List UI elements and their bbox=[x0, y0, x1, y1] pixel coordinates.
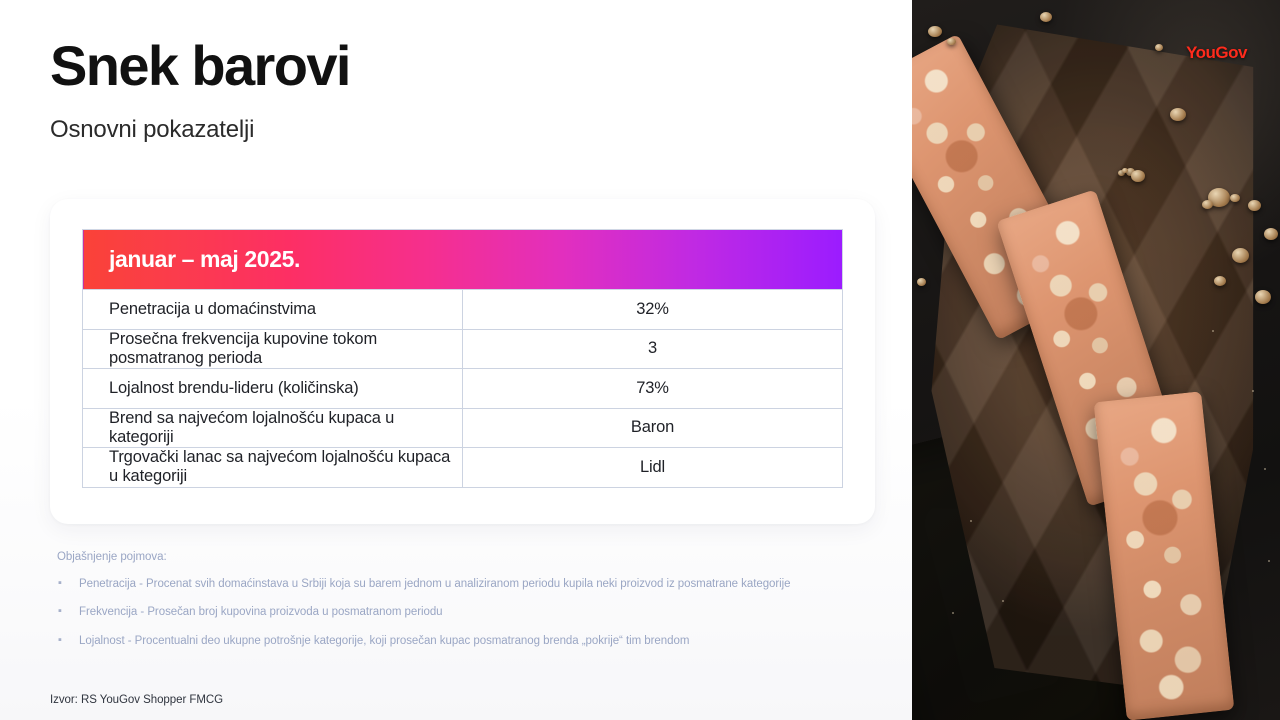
yougov-logo: YouGov bbox=[1186, 44, 1247, 61]
list-item: ▪ Frekvencija - Prosečan broj kupovina p… bbox=[57, 605, 897, 619]
photo-nut-crumb bbox=[1202, 200, 1213, 209]
photo-nut-crumb bbox=[1155, 44, 1163, 51]
metric-value: Lidl bbox=[463, 448, 843, 488]
table-period-label: januar – maj 2025. bbox=[83, 248, 842, 271]
photo-nut-crumb bbox=[1214, 276, 1226, 286]
slide-root: Snek barovi Osnovni pokazatelji januar –… bbox=[0, 0, 1280, 720]
photo-nut-crumb bbox=[947, 38, 956, 45]
table-row: Penetracija u domaćinstvima 32% bbox=[83, 290, 843, 330]
glossary-text: Lojalnost - Procentualni deo ukupne potr… bbox=[79, 634, 689, 648]
metric-label: Brend sa najvećom lojalnošću kupaca u ka… bbox=[83, 408, 463, 448]
metric-value: Baron bbox=[463, 408, 843, 448]
bullet-icon: ▪ bbox=[57, 577, 79, 590]
photo-nut-crumb bbox=[1230, 194, 1240, 202]
bullet-icon: ▪ bbox=[57, 634, 79, 647]
metric-value: 3 bbox=[463, 329, 843, 369]
photo-nut-crumb bbox=[928, 26, 942, 37]
table-header-row: januar – maj 2025. bbox=[83, 230, 843, 290]
metric-value: 73% bbox=[463, 369, 843, 409]
photo-nut-crumb bbox=[1131, 170, 1145, 182]
photo-nut-crumb bbox=[1122, 168, 1128, 173]
photo-nut-crumb bbox=[1232, 248, 1249, 263]
metric-value: 32% bbox=[463, 290, 843, 330]
list-item: ▪ Lojalnost - Procentualni deo ukupne po… bbox=[57, 634, 897, 648]
photo-speck bbox=[1264, 468, 1266, 470]
photo-speck bbox=[970, 520, 972, 522]
table-row: Brend sa najvećom lojalnošću kupaca u ka… bbox=[83, 408, 843, 448]
glossary-heading: Objašnjenje pojmova: bbox=[57, 551, 897, 563]
kpi-card: januar – maj 2025. Penetracija u domaćin… bbox=[50, 199, 875, 524]
table-row: Prosečna frekvencija kupovine tokom posm… bbox=[83, 329, 843, 369]
photo-speck bbox=[952, 612, 954, 614]
glossary-notes: Objašnjenje pojmova: ▪ Penetracija - Pro… bbox=[57, 551, 897, 662]
photo-nut-crumb bbox=[1255, 290, 1271, 304]
kpi-table: januar – maj 2025. Penetracija u domaćin… bbox=[82, 229, 843, 488]
photo-nut-crumb bbox=[917, 278, 926, 286]
metric-label: Penetracija u domaćinstvima bbox=[83, 290, 463, 330]
list-item: ▪ Penetracija - Procenat svih domaćinsta… bbox=[57, 577, 897, 591]
metric-label: Lojalnost brendu-lideru (količinska) bbox=[83, 369, 463, 409]
table-body: Penetracija u domaćinstvima 32% Prosečna… bbox=[83, 290, 843, 488]
photo-speck bbox=[1268, 560, 1270, 562]
photo-nut-crumb bbox=[1170, 108, 1186, 121]
photo-nut-crumb bbox=[1248, 200, 1261, 211]
metric-label: Trgovački lanac sa najvećom lojalnošću k… bbox=[83, 448, 463, 488]
photo-nut-crumb bbox=[1040, 12, 1052, 22]
glossary-text: Frekvencija - Prosečan broj kupovina pro… bbox=[79, 605, 443, 619]
snack-bars-photo: YouGov bbox=[912, 0, 1280, 720]
table-period-header: januar – maj 2025. bbox=[83, 230, 843, 290]
photo-speck bbox=[1002, 600, 1004, 602]
left-content-pane: Snek barovi Osnovni pokazatelji januar –… bbox=[0, 0, 912, 720]
table-row: Trgovački lanac sa najvećom lojalnošću k… bbox=[83, 448, 843, 488]
source-note: Izvor: RS YouGov Shopper FMCG bbox=[50, 694, 223, 706]
photo-speck bbox=[1252, 390, 1254, 392]
photo-speck bbox=[1212, 330, 1214, 332]
page-subtitle: Osnovni pokazatelji bbox=[50, 116, 254, 144]
glossary-text: Penetracija - Procenat svih domaćinstava… bbox=[79, 577, 791, 591]
page-title: Snek barovi bbox=[50, 36, 350, 96]
metric-label: Prosečna frekvencija kupovine tokom posm… bbox=[83, 329, 463, 369]
photo-nut-crumb bbox=[1264, 228, 1278, 240]
bullet-icon: ▪ bbox=[57, 605, 79, 618]
table-row: Lojalnost brendu-lideru (količinska) 73% bbox=[83, 369, 843, 409]
